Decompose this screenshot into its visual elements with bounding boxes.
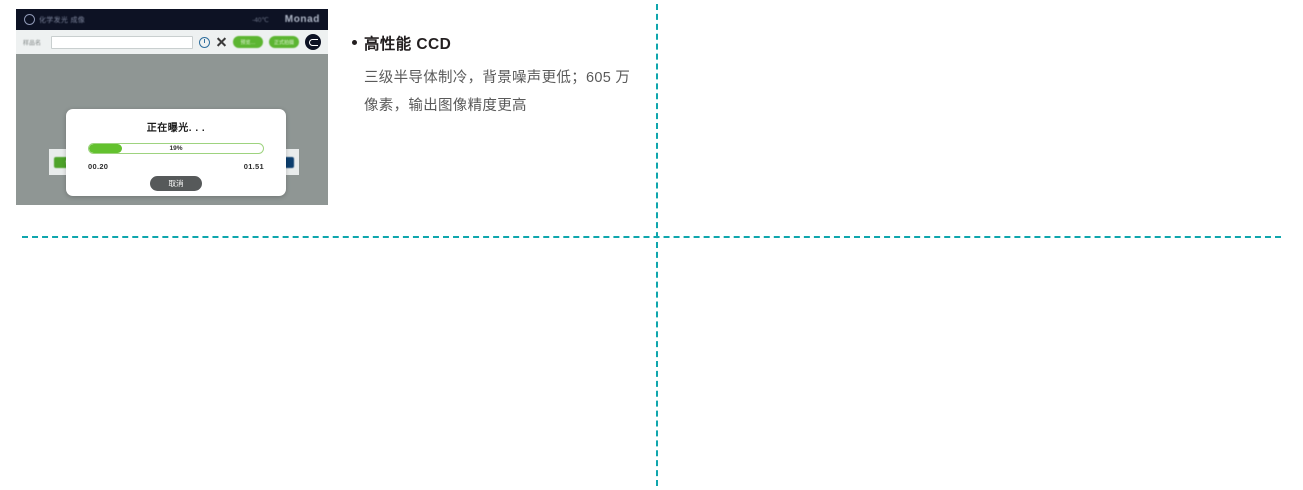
app-logo-icon <box>24 14 35 25</box>
exposure-progress-bar: 19% <box>88 143 264 154</box>
exposure-modal: 正在曝光. . . 19% 00.20 01.51 取消 <box>66 109 286 196</box>
close-icon[interactable] <box>216 37 227 48</box>
feature-body: 三级半导体制冷，背景噪声更低；605 万像素，输出图像精度更高 <box>364 64 642 121</box>
time-total: 01.51 <box>244 162 264 171</box>
exposure-titlebar: 化学发光 成像 -40℃ Monad <box>16 9 328 30</box>
back-icon[interactable] <box>305 34 321 50</box>
exposure-software-screenshot: 化学发光 成像 -40℃ Monad 样品名 预览… 正式拍摄 化学发光拍摄 荧 <box>16 9 328 205</box>
cancel-button[interactable]: 取消 <box>150 176 202 191</box>
bullet-icon <box>352 40 357 45</box>
clock-icon[interactable] <box>199 37 210 48</box>
exposure-app-title: 化学发光 成像 <box>39 15 85 25</box>
exposure-brand: Monad <box>285 14 320 25</box>
quadrant-bottom-right: Monad Image Analysis — □ ✕ 文件 编辑 视图 分析 帮… <box>658 238 1303 490</box>
progress-label: 19% <box>89 144 263 153</box>
exposure-times: 00.20 01.51 <box>88 162 264 171</box>
feature-heading: 高性能 CCD <box>352 36 642 55</box>
quadrant-top-left: 化学发光 成像 -40℃ Monad 样品名 预览… 正式拍摄 化学发光拍摄 荧 <box>0 0 656 236</box>
exposure-toolbar: 样品名 预览… 正式拍摄 <box>16 30 328 54</box>
quadrant-top-right: 化学发光 成像 -40℃ Monad 样品名 预览 曝光 曝 <box>658 0 1303 236</box>
exposure-modal-title: 正在曝光. . . <box>88 119 264 134</box>
sample-name-input[interactable] <box>51 36 193 49</box>
quadrant-bottom-left: 防锈设计 耐腐蚀，保证实验环境整洁、无需特殊维护 <box>0 238 656 490</box>
capture-button[interactable]: 正式拍摄 <box>269 36 299 48</box>
sample-name-label: 样品名 <box>23 38 45 47</box>
feature-grid: 化学发光 成像 -40℃ Monad 样品名 预览… 正式拍摄 化学发光拍摄 荧 <box>0 0 1303 490</box>
exposure-temperature: -40℃ <box>252 16 269 24</box>
feature-high-performance-ccd: 高性能 CCD 三级半导体制冷，背景噪声更低；605 万像素，输出图像精度更高 <box>352 36 642 120</box>
preview-button[interactable]: 预览… <box>233 36 263 48</box>
exposure-body: 化学发光拍摄 荧光通道拍摄 白光成像拍摄 正在曝光. . . 19% 00.20 <box>16 54 328 205</box>
feature-heading-text: 高性能 CCD <box>364 36 451 53</box>
time-elapsed: 00.20 <box>88 162 108 171</box>
